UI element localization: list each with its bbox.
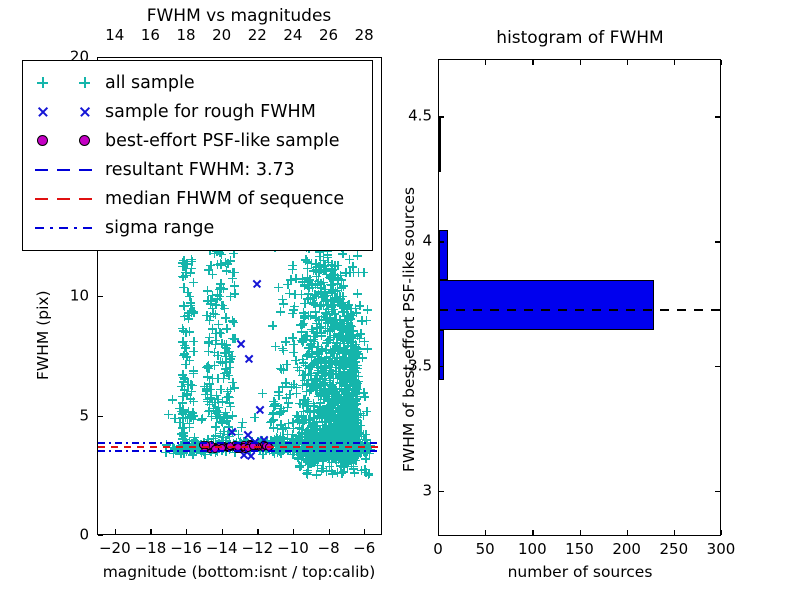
top-tick-label: 18 xyxy=(177,28,196,43)
hist-y-tick-label: 3 xyxy=(392,484,432,499)
data-point-all-sample xyxy=(318,417,327,426)
legend-entry[interactable]: resultant FWHM: 3.73 xyxy=(23,155,372,184)
histogram-bar xyxy=(439,330,444,380)
data-point-all-sample xyxy=(325,384,334,393)
scatter-title: FWHM vs magnitudes xyxy=(147,6,332,26)
top-tick-label: 20 xyxy=(212,28,231,43)
data-point-all-sample xyxy=(310,376,319,385)
data-point-all-sample xyxy=(180,385,189,394)
data-point-all-sample xyxy=(304,418,313,427)
data-point-all-sample xyxy=(268,321,277,330)
data-point-all-sample xyxy=(283,403,292,412)
top-tick-label: 14 xyxy=(105,28,124,43)
data-point-all-sample xyxy=(197,415,206,424)
histogram-median-line xyxy=(439,309,720,311)
data-point-all-sample xyxy=(360,392,369,401)
data-point-all-sample xyxy=(277,365,286,374)
data-point-all-sample xyxy=(329,305,338,314)
data-point-all-sample xyxy=(355,301,364,310)
data-point-all-sample xyxy=(319,301,328,310)
top-tick-label: 16 xyxy=(141,28,160,43)
data-point-all-sample xyxy=(304,344,313,353)
histogram-bar xyxy=(439,280,654,330)
data-point-all-sample xyxy=(314,348,323,357)
legend-label: sigma range xyxy=(105,218,214,238)
data-point-all-sample xyxy=(238,418,247,427)
data-point-all-sample xyxy=(330,427,339,436)
y-tick-mark xyxy=(98,535,103,536)
data-point-all-sample xyxy=(178,337,187,346)
data-point-all-sample xyxy=(289,348,298,357)
hist-x-tick-mark xyxy=(627,530,628,535)
legend-entry[interactable]: median FHWM of sequence xyxy=(23,184,372,213)
hist-y-tick-mark-right xyxy=(715,491,720,492)
data-point-all-sample xyxy=(205,316,214,325)
data-point-all-sample xyxy=(338,307,347,316)
reference-line-dashdot xyxy=(98,442,381,444)
histogram-title: histogram of FWHM xyxy=(496,28,663,48)
data-point-all-sample xyxy=(301,256,310,265)
hist-y-tick-mark xyxy=(439,241,444,242)
histogram-bar xyxy=(439,117,441,172)
legend-entry[interactable]: sigma range xyxy=(23,213,372,242)
data-point-all-sample xyxy=(274,283,283,292)
data-point-all-sample xyxy=(179,283,188,292)
data-point-all-sample xyxy=(288,261,297,270)
x-tick-mark xyxy=(115,529,116,534)
hist-x-tick-mark-top xyxy=(627,60,628,65)
legend-entry[interactable]: sample for rough FWHM xyxy=(23,97,372,126)
histogram-ylabel: FWHM of best-effort PSF-like sources xyxy=(400,187,418,472)
data-point-all-sample xyxy=(336,462,345,471)
x-tick-label: −6 xyxy=(353,541,375,556)
data-point-all-sample xyxy=(208,374,217,383)
x-tick-label: −10 xyxy=(277,541,309,556)
legend-box: all samplesample for rough FWHMbest-effo… xyxy=(22,60,373,251)
x-tick-label: −20 xyxy=(99,541,131,556)
data-point-all-sample xyxy=(179,326,188,335)
hist-x-tick-mark-top xyxy=(485,60,486,65)
hist-x-tick-mark xyxy=(721,530,722,535)
data-point-all-sample xyxy=(217,250,226,259)
data-point-all-sample xyxy=(279,299,288,308)
legend-marker-red-dashed-line xyxy=(31,189,105,209)
data-point-all-sample xyxy=(250,413,259,422)
data-point-rough-fwhm xyxy=(227,428,236,437)
data-point-all-sample xyxy=(301,451,310,460)
y-tick-label: 0 xyxy=(0,528,89,543)
data-point-all-sample xyxy=(315,323,324,332)
data-point-all-sample xyxy=(185,292,194,301)
data-point-all-sample xyxy=(228,268,237,277)
data-point-all-sample xyxy=(295,462,304,471)
x-tick-label: −8 xyxy=(318,541,340,556)
data-point-all-sample xyxy=(216,279,225,288)
hist-y-tick-mark xyxy=(439,491,444,492)
data-point-all-sample xyxy=(179,373,188,382)
data-point-all-sample xyxy=(274,391,283,400)
histogram-xlabel: number of sources xyxy=(508,563,653,581)
x-tick-mark xyxy=(257,529,258,534)
data-point-all-sample xyxy=(338,324,347,333)
scatter-ylabel: FWHM (pix) xyxy=(34,290,52,380)
data-point-all-sample xyxy=(292,383,301,392)
data-point-all-sample xyxy=(357,316,366,325)
data-point-all-sample xyxy=(168,395,177,404)
data-point-all-sample xyxy=(216,357,225,366)
data-point-all-sample xyxy=(269,423,278,432)
data-point-all-sample xyxy=(189,278,198,287)
hist-x-tick-label: 250 xyxy=(660,542,689,557)
hist-x-tick-mark-top xyxy=(438,60,439,65)
legend-marker-cross-marker xyxy=(31,102,105,122)
data-point-all-sample xyxy=(359,268,368,277)
legend-label: resultant FWHM: 3.73 xyxy=(105,160,295,180)
hist-y-tick-mark-right xyxy=(715,366,720,367)
data-point-all-sample xyxy=(361,454,370,463)
data-point-all-sample xyxy=(186,394,195,403)
data-point-all-sample xyxy=(337,397,346,406)
data-point-all-sample xyxy=(316,398,325,407)
data-point-all-sample xyxy=(225,354,234,363)
data-point-all-sample xyxy=(306,362,315,371)
hist-x-tick-label: 300 xyxy=(707,542,736,557)
data-point-all-sample xyxy=(225,398,234,407)
hist-x-tick-mark-top xyxy=(532,60,533,65)
data-point-all-sample xyxy=(327,287,336,296)
data-point-all-sample xyxy=(288,309,297,318)
top-tick-label: 28 xyxy=(355,28,374,43)
data-point-all-sample xyxy=(211,329,220,338)
x-tick-label: −18 xyxy=(135,541,167,556)
data-point-all-sample xyxy=(189,337,198,346)
legend-label: sample for rough FWHM xyxy=(105,102,316,122)
data-point-all-sample xyxy=(182,352,191,361)
y-tick-label: 5 xyxy=(0,408,89,423)
data-point-all-sample xyxy=(202,363,211,372)
data-point-all-sample xyxy=(314,267,323,276)
data-point-all-sample xyxy=(204,265,213,274)
data-point-all-sample xyxy=(312,470,321,479)
scatter-xlabel: magnitude (bottom:isnt / top:calib) xyxy=(103,563,376,581)
data-point-all-sample xyxy=(293,416,302,425)
histogram-canvas xyxy=(439,60,720,535)
legend-label: best-effort PSF-like sample xyxy=(105,131,340,151)
legend-entry[interactable]: all sample xyxy=(23,68,372,97)
data-point-all-sample xyxy=(213,260,222,269)
data-point-all-sample xyxy=(363,344,372,353)
top-tick-label: 22 xyxy=(248,28,267,43)
hist-x-tick-label: 150 xyxy=(565,542,594,557)
y-tick-mark xyxy=(98,296,103,297)
data-point-all-sample xyxy=(184,407,193,416)
y-tick-mark xyxy=(98,416,103,417)
x-tick-label: −16 xyxy=(170,541,202,556)
data-point-all-sample xyxy=(204,347,213,356)
x-tick-mark xyxy=(150,529,151,534)
histogram-plot-area xyxy=(438,59,721,536)
data-point-all-sample xyxy=(326,352,335,361)
histogram-bar xyxy=(439,230,448,280)
hist-x-tick-mark xyxy=(438,530,439,535)
data-point-all-sample xyxy=(341,268,350,277)
data-point-all-sample xyxy=(276,307,285,316)
data-point-all-sample xyxy=(328,275,337,284)
data-point-all-sample xyxy=(302,402,311,411)
legend-marker-blue-dashdot-line xyxy=(31,218,105,238)
data-point-all-sample xyxy=(269,402,278,411)
data-point-all-sample xyxy=(200,382,209,391)
hist-y-tick-label: 3.5 xyxy=(392,359,432,374)
hist-x-tick-mark-top xyxy=(580,60,581,65)
x-tick-mark xyxy=(293,529,294,534)
data-point-all-sample xyxy=(214,320,223,329)
data-point-rough-fwhm xyxy=(245,355,254,364)
data-point-all-sample xyxy=(354,344,363,353)
data-point-all-sample xyxy=(327,260,336,269)
data-point-all-sample xyxy=(215,292,224,301)
data-point-all-sample xyxy=(278,382,287,391)
top-tick-label: 24 xyxy=(283,28,302,43)
data-point-all-sample xyxy=(346,333,355,342)
data-point-all-sample xyxy=(364,470,373,479)
data-point-all-sample xyxy=(170,414,179,423)
data-point-all-sample xyxy=(322,467,331,476)
data-point-all-sample xyxy=(203,286,212,295)
x-tick-mark xyxy=(186,529,187,534)
hist-y-tick-mark-right xyxy=(715,116,720,117)
hist-x-tick-mark-top xyxy=(674,60,675,65)
data-point-all-sample xyxy=(219,412,228,421)
data-point-all-sample xyxy=(353,289,362,298)
hist-x-tick-mark xyxy=(485,530,486,535)
data-point-all-sample xyxy=(230,281,239,290)
data-point-all-sample xyxy=(335,363,344,372)
data-point-all-sample xyxy=(348,420,357,429)
data-point-all-sample xyxy=(303,470,312,479)
data-point-all-sample xyxy=(179,423,188,432)
data-point-all-sample xyxy=(222,324,231,333)
hist-x-tick-mark xyxy=(532,530,533,535)
hist-x-tick-mark xyxy=(674,530,675,535)
data-point-all-sample xyxy=(286,275,295,284)
legend-label: median FHWM of sequence xyxy=(105,189,344,209)
hist-y-tick-label: 4.5 xyxy=(392,109,432,124)
hist-x-tick-label: 50 xyxy=(476,542,495,557)
data-point-all-sample xyxy=(342,388,351,397)
reference-line-dashdot xyxy=(98,450,381,452)
legend-marker-blue-dashed-line xyxy=(31,160,105,180)
hist-y-tick-mark-right xyxy=(715,241,720,242)
data-point-all-sample xyxy=(324,370,333,379)
data-point-all-sample xyxy=(203,296,212,305)
data-point-all-sample xyxy=(351,399,360,408)
data-point-all-sample xyxy=(306,293,315,302)
data-point-all-sample xyxy=(339,420,348,429)
data-point-all-sample xyxy=(186,268,195,277)
data-point-all-sample xyxy=(339,282,348,291)
data-point-all-sample xyxy=(299,308,308,317)
data-point-all-sample xyxy=(228,378,237,387)
data-point-rough-fwhm xyxy=(236,339,245,348)
data-point-rough-fwhm xyxy=(252,279,261,288)
x-tick-mark xyxy=(329,529,330,534)
x-tick-mark xyxy=(364,529,365,534)
data-point-all-sample xyxy=(209,404,218,413)
legend-label: all sample xyxy=(105,73,195,93)
data-point-all-sample xyxy=(220,304,229,313)
hist-x-tick-label: 200 xyxy=(612,542,641,557)
y-tick-label: 10 xyxy=(0,289,89,304)
data-point-all-sample xyxy=(307,280,316,289)
hist-y-tick-mark xyxy=(439,116,444,117)
y-tick-mark xyxy=(98,57,103,58)
hist-y-tick-mark xyxy=(439,366,444,367)
data-point-all-sample xyxy=(204,337,213,346)
data-point-all-sample xyxy=(189,366,198,375)
reference-line-dashed xyxy=(98,446,381,448)
data-point-all-sample xyxy=(332,341,341,350)
x-tick-label: −14 xyxy=(206,541,238,556)
hist-x-tick-mark-top xyxy=(721,60,722,65)
hist-x-tick-label: 0 xyxy=(433,542,443,557)
x-tick-mark xyxy=(222,529,223,534)
data-point-rough-fwhm xyxy=(256,405,265,414)
data-point-all-sample xyxy=(353,410,362,419)
top-tick-label: 26 xyxy=(319,28,338,43)
data-point-all-sample xyxy=(291,356,300,365)
legend-marker-plus-marker xyxy=(31,73,105,93)
data-point-all-sample xyxy=(333,411,342,420)
hist-y-tick-label: 4 xyxy=(392,234,432,249)
data-point-all-sample xyxy=(189,307,198,316)
x-tick-label: −12 xyxy=(241,541,273,556)
hist-x-tick-label: 100 xyxy=(518,542,547,557)
hist-x-tick-mark xyxy=(580,530,581,535)
data-point-all-sample xyxy=(258,389,267,398)
legend-entry[interactable]: best-effort PSF-like sample xyxy=(23,126,372,155)
legend-marker-circle-marker xyxy=(31,131,105,151)
data-point-all-sample xyxy=(353,251,362,260)
data-point-all-sample xyxy=(281,337,290,346)
data-point-all-sample xyxy=(203,395,212,404)
